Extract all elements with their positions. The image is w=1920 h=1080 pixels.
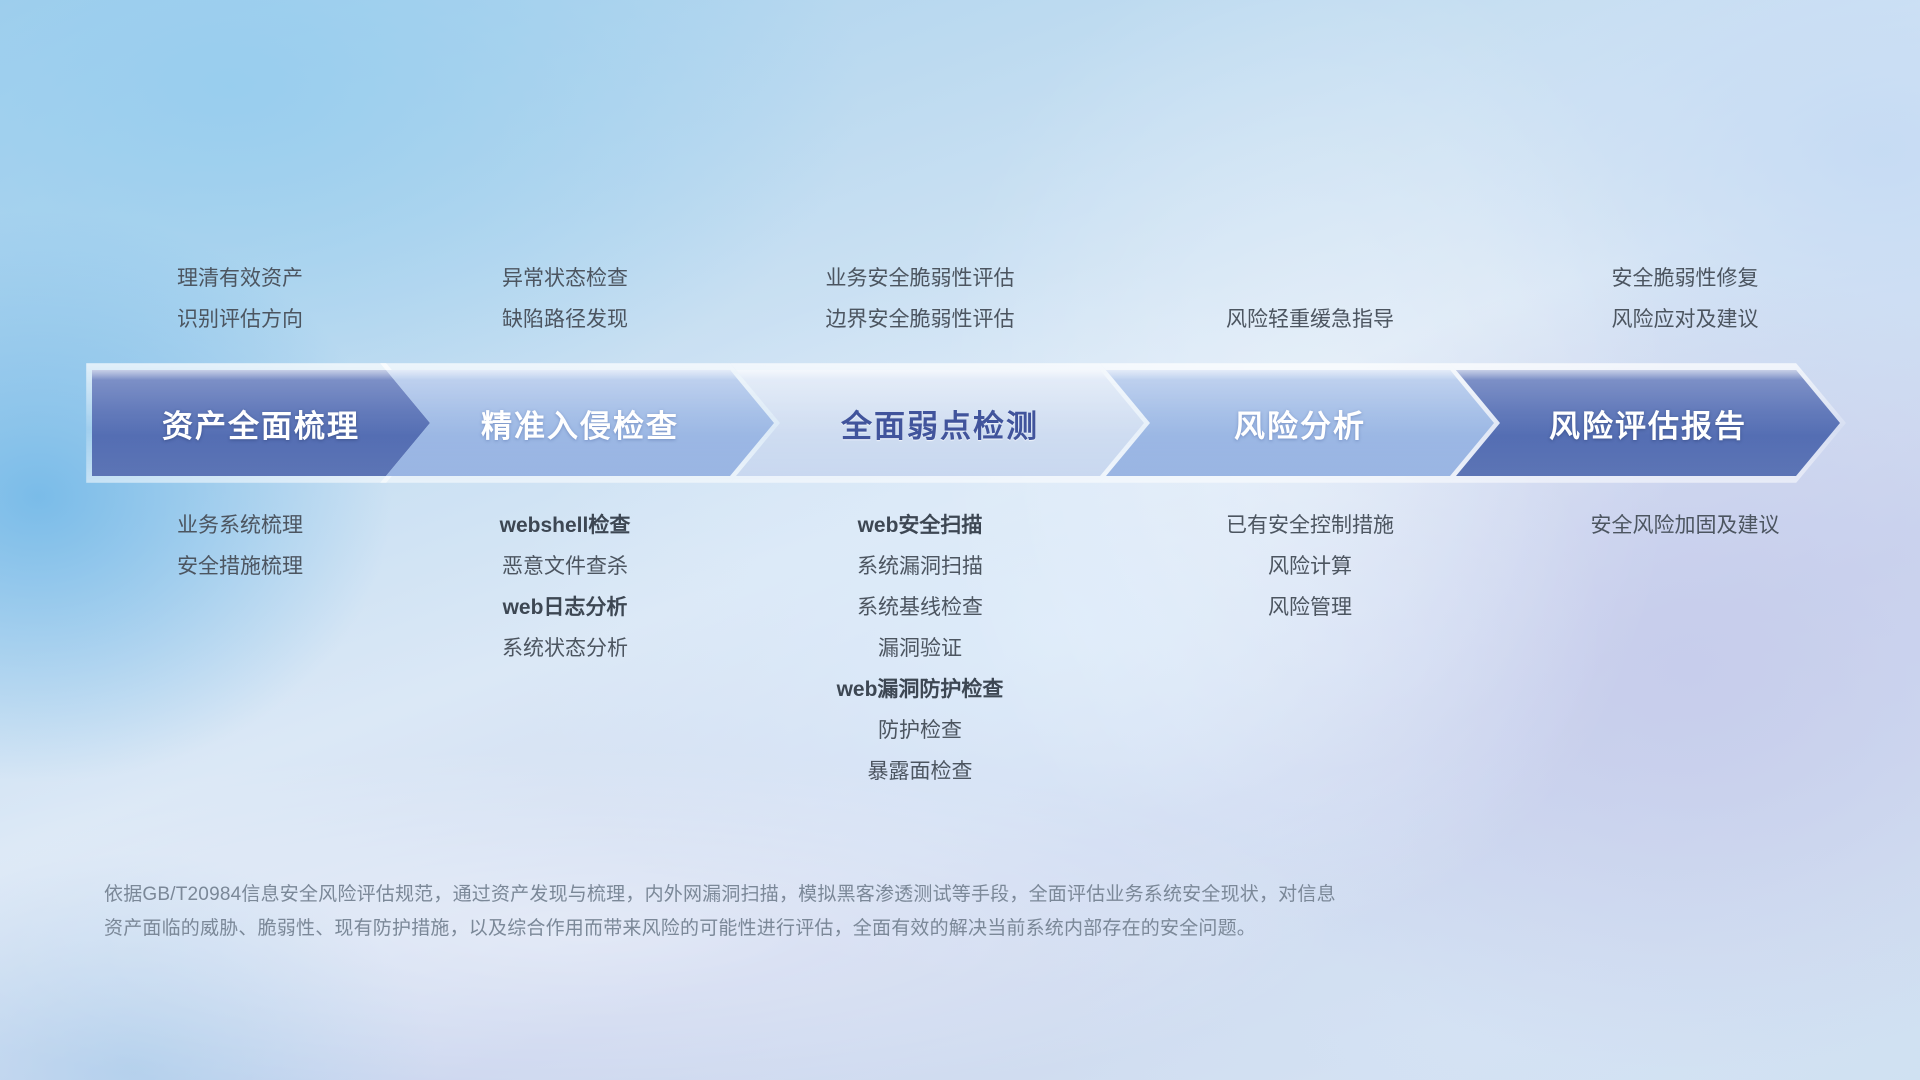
footer-line-2: 资产面临的威胁、脆弱性、现有防护措施，以及综合作用而带来风险的可能性进行评估，全… [104,912,1624,946]
bottom-labels-risk-analysis: 已有安全控制措施 风险计算 风险管理 [1100,505,1520,628]
chevron-top-glow [1456,370,1840,380]
chevron-top-glow [736,370,1144,380]
chevron-stage-risk-analysis[interactable]: 风险分析 [1106,370,1494,476]
bottom-label-line: 风险管理 [1100,587,1520,628]
bottom-label-line: 暴露面检查 [700,751,1140,792]
bottom-label-line: web漏洞防护检查 [700,669,1140,710]
footer-line-1: 依据GB/T20984信息安全风险评估规范，通过资产发现与梳理，内外网漏洞扫描，… [104,878,1624,912]
top-labels-assessment-report: 安全脆弱性修复 风险应对及建议 [1470,258,1900,340]
chevron-top-glow [1106,370,1494,380]
chevron-label: 全面弱点检测 [841,401,1039,446]
chevron-label: 资产全面梳理 [162,401,360,446]
bottom-label-line: 安全风险加固及建议 [1470,505,1900,546]
bottom-label-line: 防护检查 [700,710,1140,751]
bottom-label-line: 系统基线检查 [700,587,1140,628]
slide-canvas: 理清有效资产 识别评估方向 异常状态检查 缺陷路径发现 业务安全脆弱性评估 边界… [0,0,1920,1080]
top-label-line: 业务安全脆弱性评估 [700,258,1140,299]
chevron-label: 精准入侵检查 [481,401,679,446]
top-label-line: 风险轻重缓急指导 [1100,299,1520,340]
chevron-stage-intrusion-check[interactable]: 精准入侵检查 [386,370,774,476]
bottom-label-line: web安全扫描 [700,505,1140,546]
chevron-stage-weakness-detection[interactable]: 全面弱点检测 [736,370,1144,476]
top-labels-risk-analysis: 风险轻重缓急指导 [1100,299,1520,340]
chevron-top-glow [386,370,774,380]
chevron-stage-asset-inventory[interactable]: 资产全面梳理 [92,370,430,476]
top-label-line: 安全脆弱性修复 [1470,258,1900,299]
bottom-labels-weakness-detection: web安全扫描 系统漏洞扫描 系统基线检查 漏洞验证 web漏洞防护检查 防护检… [700,505,1140,792]
chevron-label: 风险评估报告 [1549,401,1747,446]
bottom-label-line: 漏洞验证 [700,628,1140,669]
top-label-line: 边界安全脆弱性评估 [700,299,1140,340]
chevron-top-glow [92,370,430,380]
footer-description: 依据GB/T20984信息安全风险评估规范，通过资产发现与梳理，内外网漏洞扫描，… [104,878,1624,946]
top-label-line: 风险应对及建议 [1470,299,1900,340]
chevron-stage-assessment-report[interactable]: 风险评估报告 [1456,370,1840,476]
process-chevron-band: 资产全面梳理 精准入侵检查 全面弱点检测 风险分析 风险评估报告 [92,370,1834,476]
top-labels-weakness-detection: 业务安全脆弱性评估 边界安全脆弱性评估 [700,258,1140,340]
bottom-label-line: 风险计算 [1100,546,1520,587]
bottom-label-line: 已有安全控制措施 [1100,505,1520,546]
bottom-labels-assessment-report: 安全风险加固及建议 [1470,505,1900,546]
bottom-label-line: 系统漏洞扫描 [700,546,1140,587]
chevron-label: 风险分析 [1234,401,1366,446]
